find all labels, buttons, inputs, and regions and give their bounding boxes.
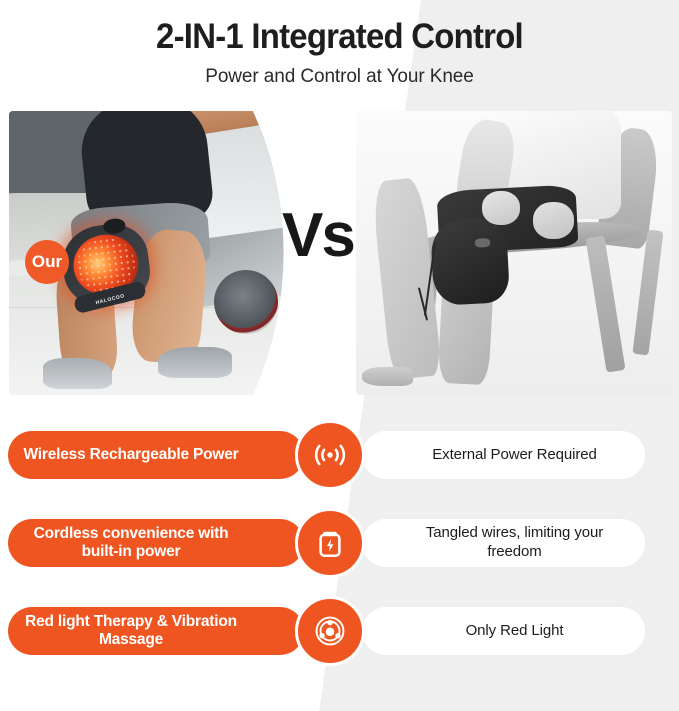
- our-feature-label: Cordless convenience with built-in power: [22, 525, 240, 561]
- infographic-root: 2-IN-1 Integrated Control Power and Cont…: [0, 0, 679, 711]
- their-feature-label: Tangled wires, limiting your freedom: [402, 524, 627, 562]
- vs-divider-label: Vs: [282, 205, 392, 267]
- feature-row: Wireless Rechargeable Power External Pow…: [0, 420, 679, 508]
- our-badge-label: Our: [32, 252, 62, 272]
- wireless-signal-icon: [311, 436, 349, 474]
- competitor-knee-brace: [430, 217, 510, 306]
- our-badge: Our: [25, 240, 69, 284]
- page-title: 2-IN-1 Integrated Control: [20, 18, 658, 57]
- our-feature-pill: Wireless Rechargeable Power: [8, 431, 304, 479]
- their-feature-pill: External Power Required: [362, 431, 645, 479]
- competitor-brace-buttons: [475, 238, 491, 247]
- our-product-photo: HALOCOO Our: [9, 111, 295, 395]
- feature-row: Red light Therapy & Vibration Massage On…: [0, 596, 679, 684]
- feature-row: Cordless convenience with built-in power…: [0, 508, 679, 596]
- our-feature-label: Wireless Rechargeable Power: [23, 446, 238, 464]
- person-hand-left: [482, 191, 520, 225]
- their-feature-pill: Only Red Light: [362, 607, 645, 655]
- chair-scene: [356, 111, 672, 395]
- feature-comparison-list: Wireless Rechargeable Power External Pow…: [0, 420, 679, 684]
- our-feature-label: Red light Therapy & Vibration Massage: [22, 613, 240, 649]
- person-shoe-left: [43, 358, 112, 389]
- person-foot: [362, 367, 413, 387]
- vibration-massage-icon: [311, 612, 349, 650]
- person-shoe-right: [158, 347, 232, 378]
- page-subtitle: Power and Control at Your Knee: [0, 66, 679, 88]
- others-product-photo: Others: [356, 111, 672, 395]
- their-feature-pill: Tangled wires, limiting your freedom: [362, 519, 645, 567]
- header: 2-IN-1 Integrated Control Power and Cont…: [0, 18, 679, 88]
- person-hand-right: [533, 202, 574, 239]
- our-feature-pill: Red light Therapy & Vibration Massage: [8, 607, 304, 655]
- feature-icon-badge: [295, 596, 365, 666]
- our-feature-pill: Cordless convenience with built-in power: [8, 519, 304, 567]
- feature-icon-badge: [295, 420, 365, 490]
- gym-equipment-wheel: [214, 270, 278, 334]
- their-feature-label: External Power Required: [432, 446, 596, 465]
- chair-leg-mid: [586, 235, 626, 373]
- their-feature-label: Only Red Light: [466, 622, 564, 641]
- feature-icon-badge: [295, 508, 365, 578]
- battery-bolt-icon: [312, 525, 348, 561]
